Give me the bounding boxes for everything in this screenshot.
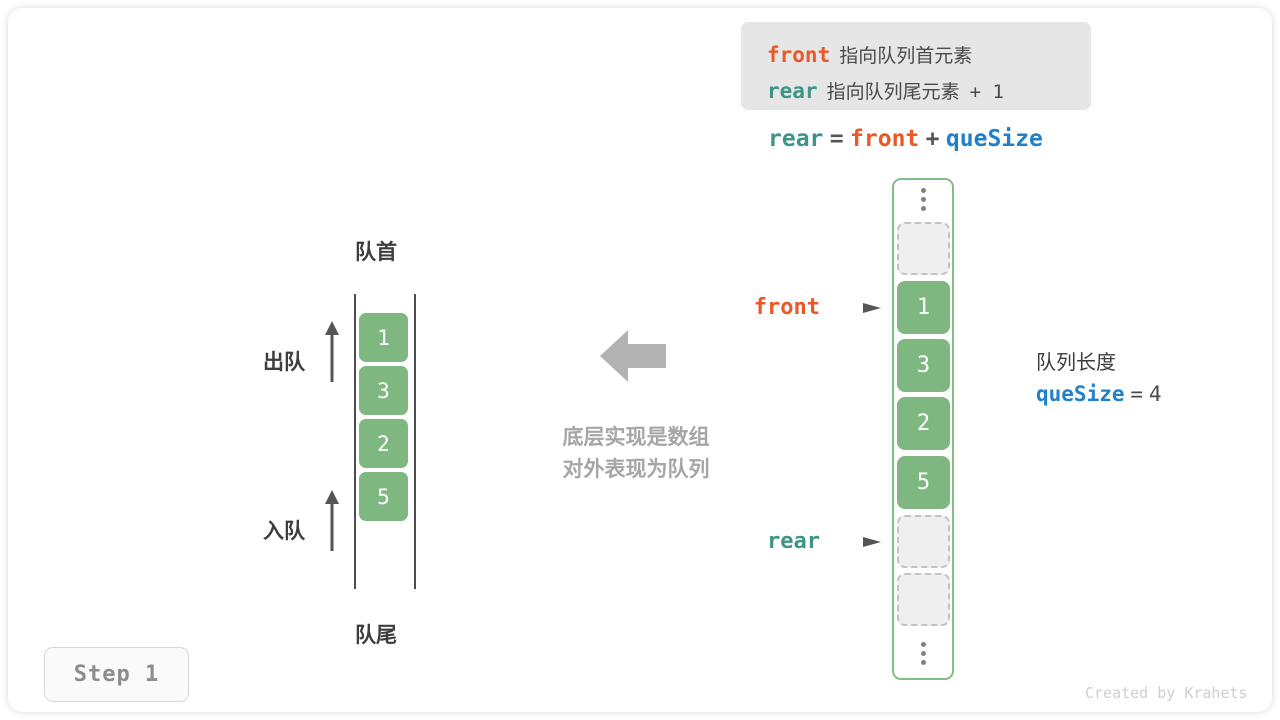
quesize-annotation: 队列长度 queSize = 4 xyxy=(1036,349,1162,405)
legend-keyword-front: front xyxy=(767,43,830,67)
queue-cell: 3 xyxy=(359,366,408,415)
enqueue-label: 入队 xyxy=(263,515,305,545)
queue-cell: 5 xyxy=(359,472,408,521)
caption-line-2: 对外表现为队列 xyxy=(536,454,736,486)
pointer-legend-box: front指向队列首元素 rear指向队列尾元素+ 1 xyxy=(741,22,1091,110)
quesize-equals: = xyxy=(1130,382,1143,406)
legend-description-rear: 指向队列尾元素 xyxy=(827,82,960,103)
array-cell-filled: 1 xyxy=(897,281,950,334)
legend-suffix-rear: + 1 xyxy=(970,81,1004,103)
quesize-value: 4 xyxy=(1149,382,1162,406)
vertical-dots-icon xyxy=(916,642,930,665)
queue-head-label: 队首 xyxy=(355,236,397,266)
rear-pointer-label: rear xyxy=(708,529,820,554)
queue-tail-label: 队尾 xyxy=(355,619,397,649)
left-arrow-icon xyxy=(600,328,666,389)
queue-cell: 2 xyxy=(359,419,408,468)
front-pointer-arrow-icon xyxy=(863,300,885,321)
array-cell-filled: 3 xyxy=(897,339,950,392)
diagram-canvas: front指向队列首元素 rear指向队列尾元素+ 1 rear = front… xyxy=(8,8,1272,712)
front-pointer-label: front xyxy=(708,295,820,320)
array-cell-empty xyxy=(897,515,950,568)
queue-rail-left xyxy=(354,294,356,589)
array-cell-filled: 5 xyxy=(897,456,950,509)
dequeue-arrow-icon xyxy=(324,321,340,388)
quesize-variable: queSize xyxy=(1036,382,1125,406)
quesize-expression: queSize = 4 xyxy=(1036,384,1162,405)
legend-line-front: front指向队列首元素 xyxy=(767,45,972,67)
credit-text: Created by Krahets xyxy=(1085,684,1248,702)
formula-rear: rear xyxy=(768,126,823,152)
formula-front: front xyxy=(850,126,919,152)
queue-rail-right xyxy=(414,294,416,589)
array-cell-empty xyxy=(897,573,950,626)
formula-rear-equals-front-plus-quesize: rear = front + queSize xyxy=(768,127,1043,151)
diagram-caption: 底层实现是数组 对外表现为队列 xyxy=(536,422,736,486)
queue-cell: 1 xyxy=(359,313,408,362)
legend-keyword-rear: rear xyxy=(767,79,818,103)
step-badge: Step 1 xyxy=(44,647,189,702)
vertical-dots-icon xyxy=(916,188,930,211)
formula-quesize: queSize xyxy=(946,126,1043,152)
array-cell-empty xyxy=(897,222,950,275)
dequeue-label: 出队 xyxy=(263,346,305,376)
rear-pointer-arrow-icon xyxy=(863,534,885,555)
quesize-title: 队列长度 xyxy=(1036,349,1162,377)
legend-line-rear: rear指向队列尾元素+ 1 xyxy=(767,81,1004,103)
enqueue-arrow-icon xyxy=(324,490,340,557)
array-cell-filled: 2 xyxy=(897,397,950,450)
caption-line-1: 底层实现是数组 xyxy=(536,422,736,454)
legend-description-front: 指向队列首元素 xyxy=(839,46,972,67)
formula-plus: + xyxy=(926,126,940,152)
formula-equals: = xyxy=(830,126,844,152)
